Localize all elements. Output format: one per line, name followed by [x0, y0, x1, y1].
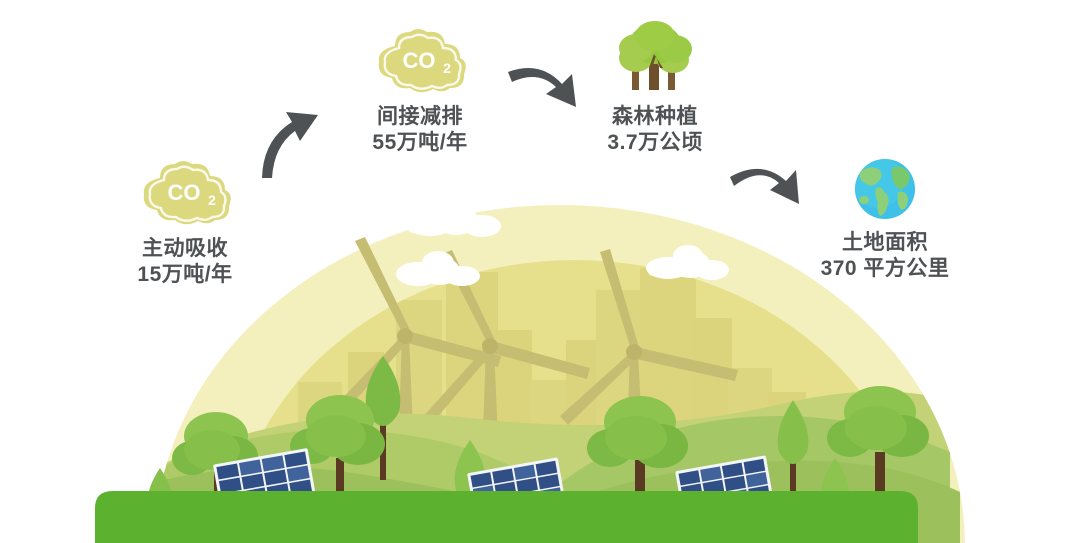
flow-node-forest: 森林种植 3.7万公顷 [545, 18, 765, 157]
flow-node-value: 3.7万公顷 [545, 130, 765, 156]
flow-node-land: 土地面积 370 平方公里 [775, 152, 995, 283]
co2-icon-text: CO [168, 180, 201, 205]
flow-node-reduce: CO 2 间接减排 55万吨/年 [310, 28, 530, 157]
co2-icon-subscript: 2 [443, 60, 451, 76]
co2-icon-subscript: 2 [208, 192, 216, 208]
co2-icon-text: CO [403, 48, 436, 73]
trees-icon [605, 18, 705, 100]
ground-strip [95, 491, 918, 543]
cloud [406, 199, 501, 237]
co2-cloud-icon: CO 2 [365, 28, 475, 100]
globe-icon [848, 152, 922, 226]
flow-node-absorb: CO 2 主动吸收 15万吨/年 [75, 160, 295, 289]
flow-node-label: 主动吸收 [75, 236, 295, 262]
flow-node-label: 间接减排 [310, 104, 530, 130]
flow-node-value: 55万吨/年 [310, 130, 530, 156]
infographic-canvas: CO 2 主动吸收 15万吨/年 CO 2 间接减排 55万吨/年 [0, 0, 1080, 543]
flow-node-label: 森林种植 [545, 104, 765, 130]
flow-node-value: 370 平方公里 [775, 256, 995, 282]
flow-node-label: 土地面积 [775, 230, 995, 256]
co2-cloud-icon: CO 2 [130, 160, 240, 232]
flow-node-value: 15万吨/年 [75, 262, 295, 288]
